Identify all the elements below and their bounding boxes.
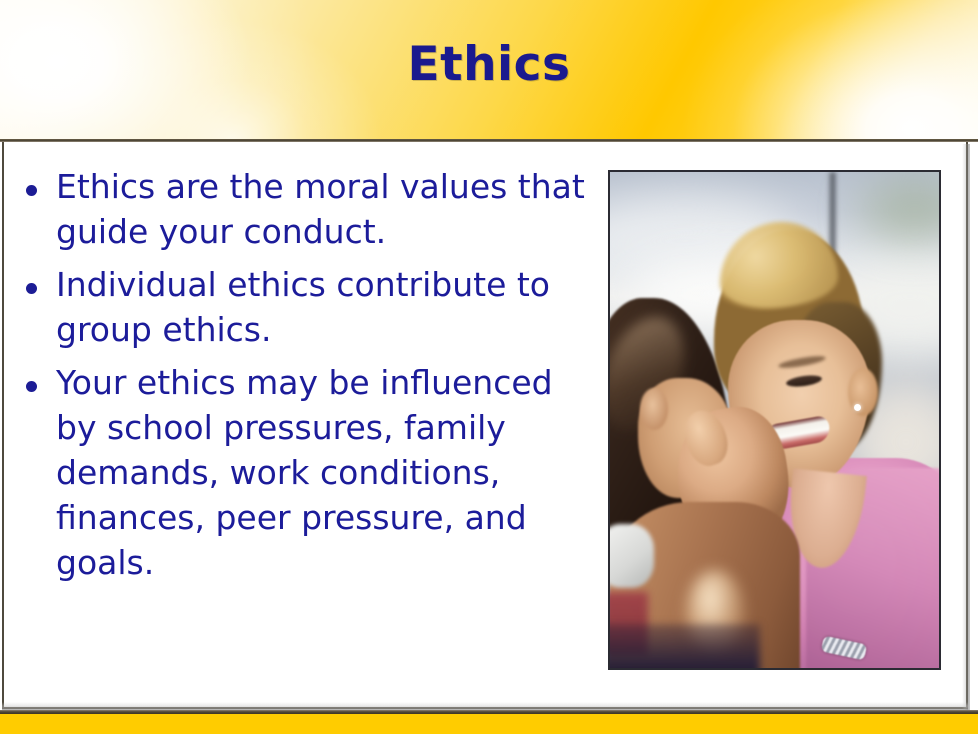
- bullet-text: Individual ethics contribute to group et…: [56, 262, 596, 352]
- bullet-marker: [26, 262, 56, 298]
- photo-left-girl-ear: [640, 388, 668, 430]
- list-item: Ethics are the moral values that guide y…: [26, 164, 596, 254]
- bullet-dot-icon: [26, 283, 37, 294]
- presentation-slide: Ethics Ethics are the moral values that …: [0, 0, 978, 734]
- whispering-girls-photo: [608, 170, 941, 670]
- photo-white-garment: [610, 524, 654, 588]
- list-item: Individual ethics contribute to group et…: [26, 262, 596, 352]
- bullet-dot-icon: [26, 185, 37, 196]
- bullet-text: Ethics are the moral values that guide y…: [56, 164, 596, 254]
- photo-earring: [854, 404, 861, 411]
- list-item: Your ethics may be influenced by school …: [26, 360, 596, 585]
- photo-canvas: [610, 172, 939, 668]
- bullet-marker: [26, 360, 56, 396]
- bullet-list: Ethics are the moral values that guide y…: [26, 164, 596, 593]
- photo-right-girl-ear: [848, 368, 878, 416]
- photo-dark-foreground: [610, 624, 760, 668]
- footer-gold-bar: [0, 714, 978, 734]
- bullet-text: Your ethics may be influenced by school …: [56, 360, 596, 585]
- bullet-marker: [26, 164, 56, 200]
- page-title: Ethics: [0, 36, 978, 94]
- bullet-dot-icon: [26, 381, 37, 392]
- slide-header-banner: Ethics: [0, 0, 978, 142]
